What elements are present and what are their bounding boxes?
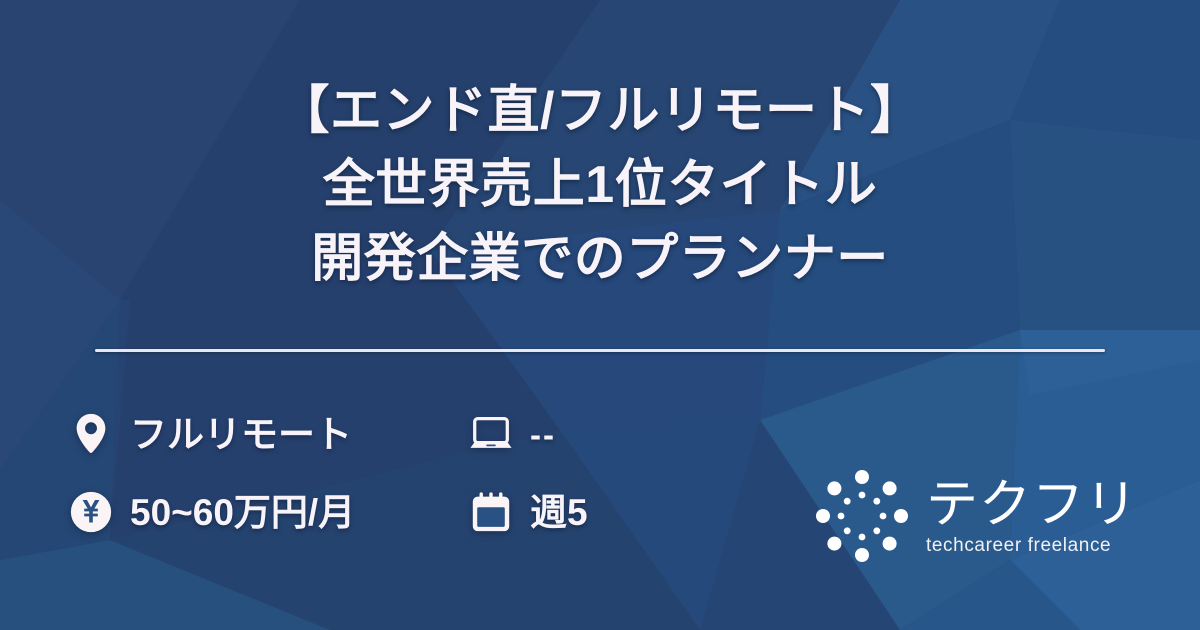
dot-constellation-icon xyxy=(812,466,912,566)
detail-label-schedule: 週5 xyxy=(530,494,588,531)
title-line-1: 【エンド直/フルリモート】 xyxy=(0,74,1200,148)
brand-logo: テクフリ techcareer freelance xyxy=(812,466,1142,566)
detail-label-location: フルリモート xyxy=(130,416,352,453)
location-pin-icon xyxy=(68,411,114,457)
title-line-3: 開発企業でのプランナー xyxy=(0,222,1200,296)
calendar-icon xyxy=(468,489,514,535)
detail-item-workstyle: -- xyxy=(468,411,588,457)
logo-wordmark: テクフリ techcareer freelance xyxy=(926,474,1138,558)
logo-name: テクフリ xyxy=(926,478,1138,533)
laptop-icon xyxy=(468,411,514,457)
detail-item-pay: 50~60万円/月 xyxy=(68,489,468,535)
job-detail-grid: フルリモート -- 50~60万円/月 xyxy=(68,395,588,551)
title-line-2: 全世界売上1位タイトル xyxy=(0,148,1200,222)
horizontal-divider xyxy=(95,349,1105,352)
logo-tagline: techcareer freelance xyxy=(926,535,1111,558)
detail-item-location: フルリモート xyxy=(68,411,468,457)
job-title: 【エンド直/フルリモート】 全世界売上1位タイトル 開発企業でのプランナー xyxy=(0,74,1200,296)
detail-label-pay: 50~60万円/月 xyxy=(130,494,355,531)
yen-circle-icon xyxy=(68,489,114,535)
detail-label-workstyle: -- xyxy=(530,418,556,451)
detail-item-schedule: 週5 xyxy=(468,489,588,535)
job-posting-card: 【エンド直/フルリモート】 全世界売上1位タイトル 開発企業でのプランナー フル… xyxy=(0,0,1200,630)
